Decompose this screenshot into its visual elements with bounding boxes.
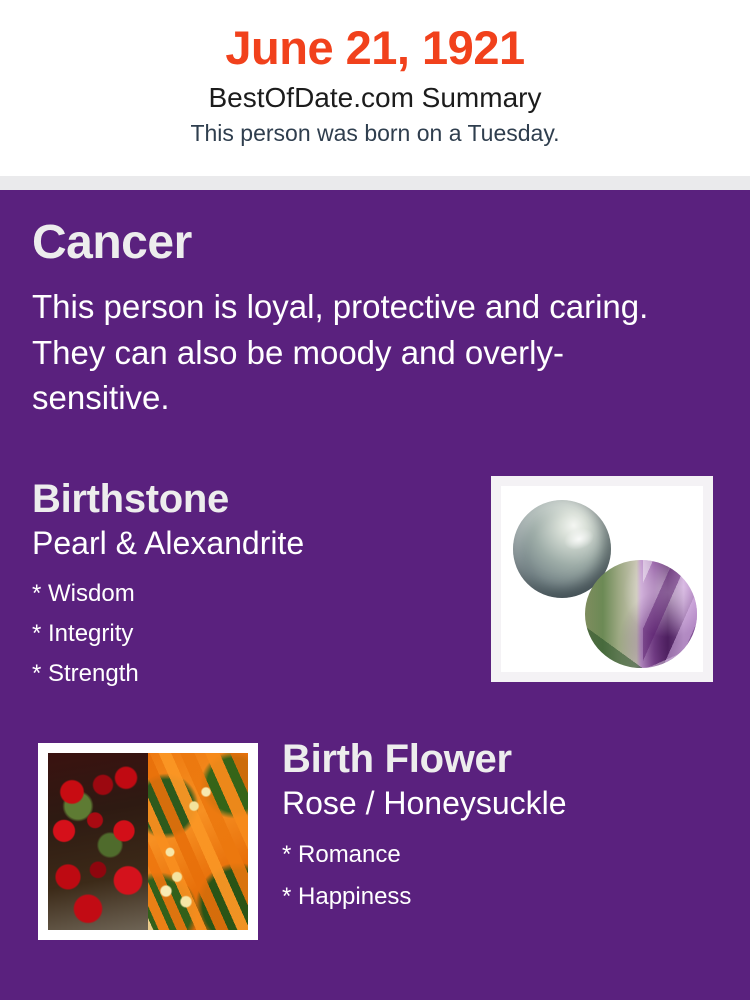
list-item: * Wisdom (32, 574, 472, 614)
birth-flower-name: Rose / Honeysuckle (282, 784, 712, 822)
page-title-date: June 21, 1921 (0, 22, 750, 75)
list-item: * Integrity (32, 614, 472, 654)
birthstone-name: Pearl & Alexandrite (32, 524, 472, 562)
birth-flower-title: Birth Flower (282, 737, 712, 782)
site-brand-subtitle: BestOfDate.com Summary (0, 81, 750, 115)
birth-flower-section: Birth Flower Rose / Honeysuckle * Romanc… (282, 737, 712, 918)
birthstone-photo (501, 486, 703, 672)
birthstone-section: Birthstone Pearl & Alexandrite * Wisdom … (32, 477, 472, 694)
list-item: * Happiness (282, 876, 712, 918)
birth-flower-trait-list: * Romance * Happiness (282, 834, 712, 918)
header: June 21, 1921 BestOfDate.com Summary Thi… (0, 0, 750, 176)
honeysuckle-photo-icon (148, 753, 248, 930)
zodiac-sign-title: Cancer (32, 215, 192, 270)
list-item: * Strength (32, 654, 472, 694)
birthstone-image-frame (491, 476, 713, 682)
rose-photo-icon (48, 753, 148, 930)
birth-flower-image-frame (38, 743, 258, 940)
list-item: * Romance (282, 834, 712, 876)
header-divider (0, 176, 750, 190)
birth-flower-photo (48, 753, 248, 930)
birthstone-trait-list: * Wisdom * Integrity * Strength (32, 574, 472, 694)
zodiac-description: This person is loyal, protective and car… (32, 284, 652, 421)
birthstone-title: Birthstone (32, 477, 472, 522)
alexandrite-gem-icon (585, 560, 697, 668)
born-weekday-text: This person was born on a Tuesday. (0, 120, 750, 148)
date-summary-card: June 21, 1921 BestOfDate.com Summary Thi… (0, 0, 750, 1000)
